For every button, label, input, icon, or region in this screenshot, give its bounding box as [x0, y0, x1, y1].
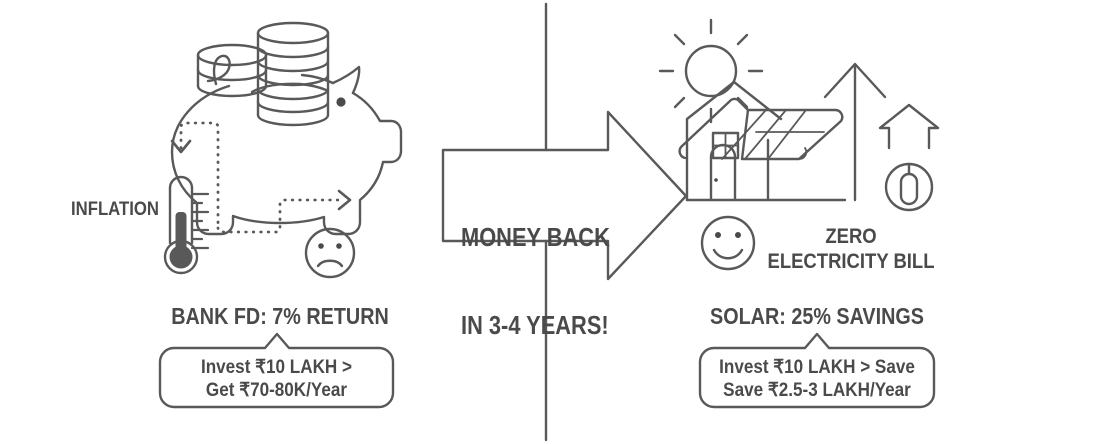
coin-icon — [886, 164, 932, 210]
bank-fd-caption: BANK FD: 7% RETURN — [151, 302, 409, 330]
money-back-arrow-text: MONEY BACK IN 3-4 YEARS! — [461, 165, 595, 398]
solar-caption: SOLAR: 25% SAVINGS — [688, 302, 946, 330]
money-back-line2: IN 3-4 YEARS! — [461, 311, 595, 340]
coin-stack-tall-icon — [258, 23, 328, 125]
right-callout-line2: Save ₹2.5-3 LAKH/Year — [723, 379, 911, 402]
money-back-line1: MONEY BACK — [461, 223, 595, 252]
sad-face-icon — [306, 229, 354, 277]
small-up-arrow-icon — [880, 105, 938, 148]
right-callout-text: Invest ₹10 LAKH > Save Save ₹2.5-3 LAKH/… — [716, 355, 918, 403]
zero-line1: ZERO — [825, 225, 876, 250]
piggy-bank-icon — [172, 56, 401, 234]
house-with-solar-panels-icon — [680, 82, 845, 200]
zero-electricity-bill-label: ZERO ELECTRICITY BILL — [775, 224, 926, 276]
left-callout-line1: Invest ₹10 LAKH > — [201, 356, 352, 379]
dotted-arrow-right-head — [339, 191, 350, 209]
up-arrow-icon — [825, 64, 885, 200]
left-callout-line2: Get ₹70-80K/Year — [206, 379, 347, 402]
zero-line2: ELECTRICITY BILL — [767, 250, 934, 275]
happy-face-icon — [702, 217, 754, 269]
inflation-label: INFLATION — [67, 198, 164, 222]
right-callout-line1: Invest ₹10 LAKH > Save — [719, 356, 915, 379]
sun-icon — [660, 20, 762, 122]
infographic-canvas: INFLATION BANK FD: 7% RETURN Invest ₹10 … — [0, 0, 1093, 444]
left-callout-text: Invest ₹10 LAKH > Get ₹70-80K/Year — [176, 355, 377, 403]
coin-stack-short-icon — [198, 45, 266, 96]
